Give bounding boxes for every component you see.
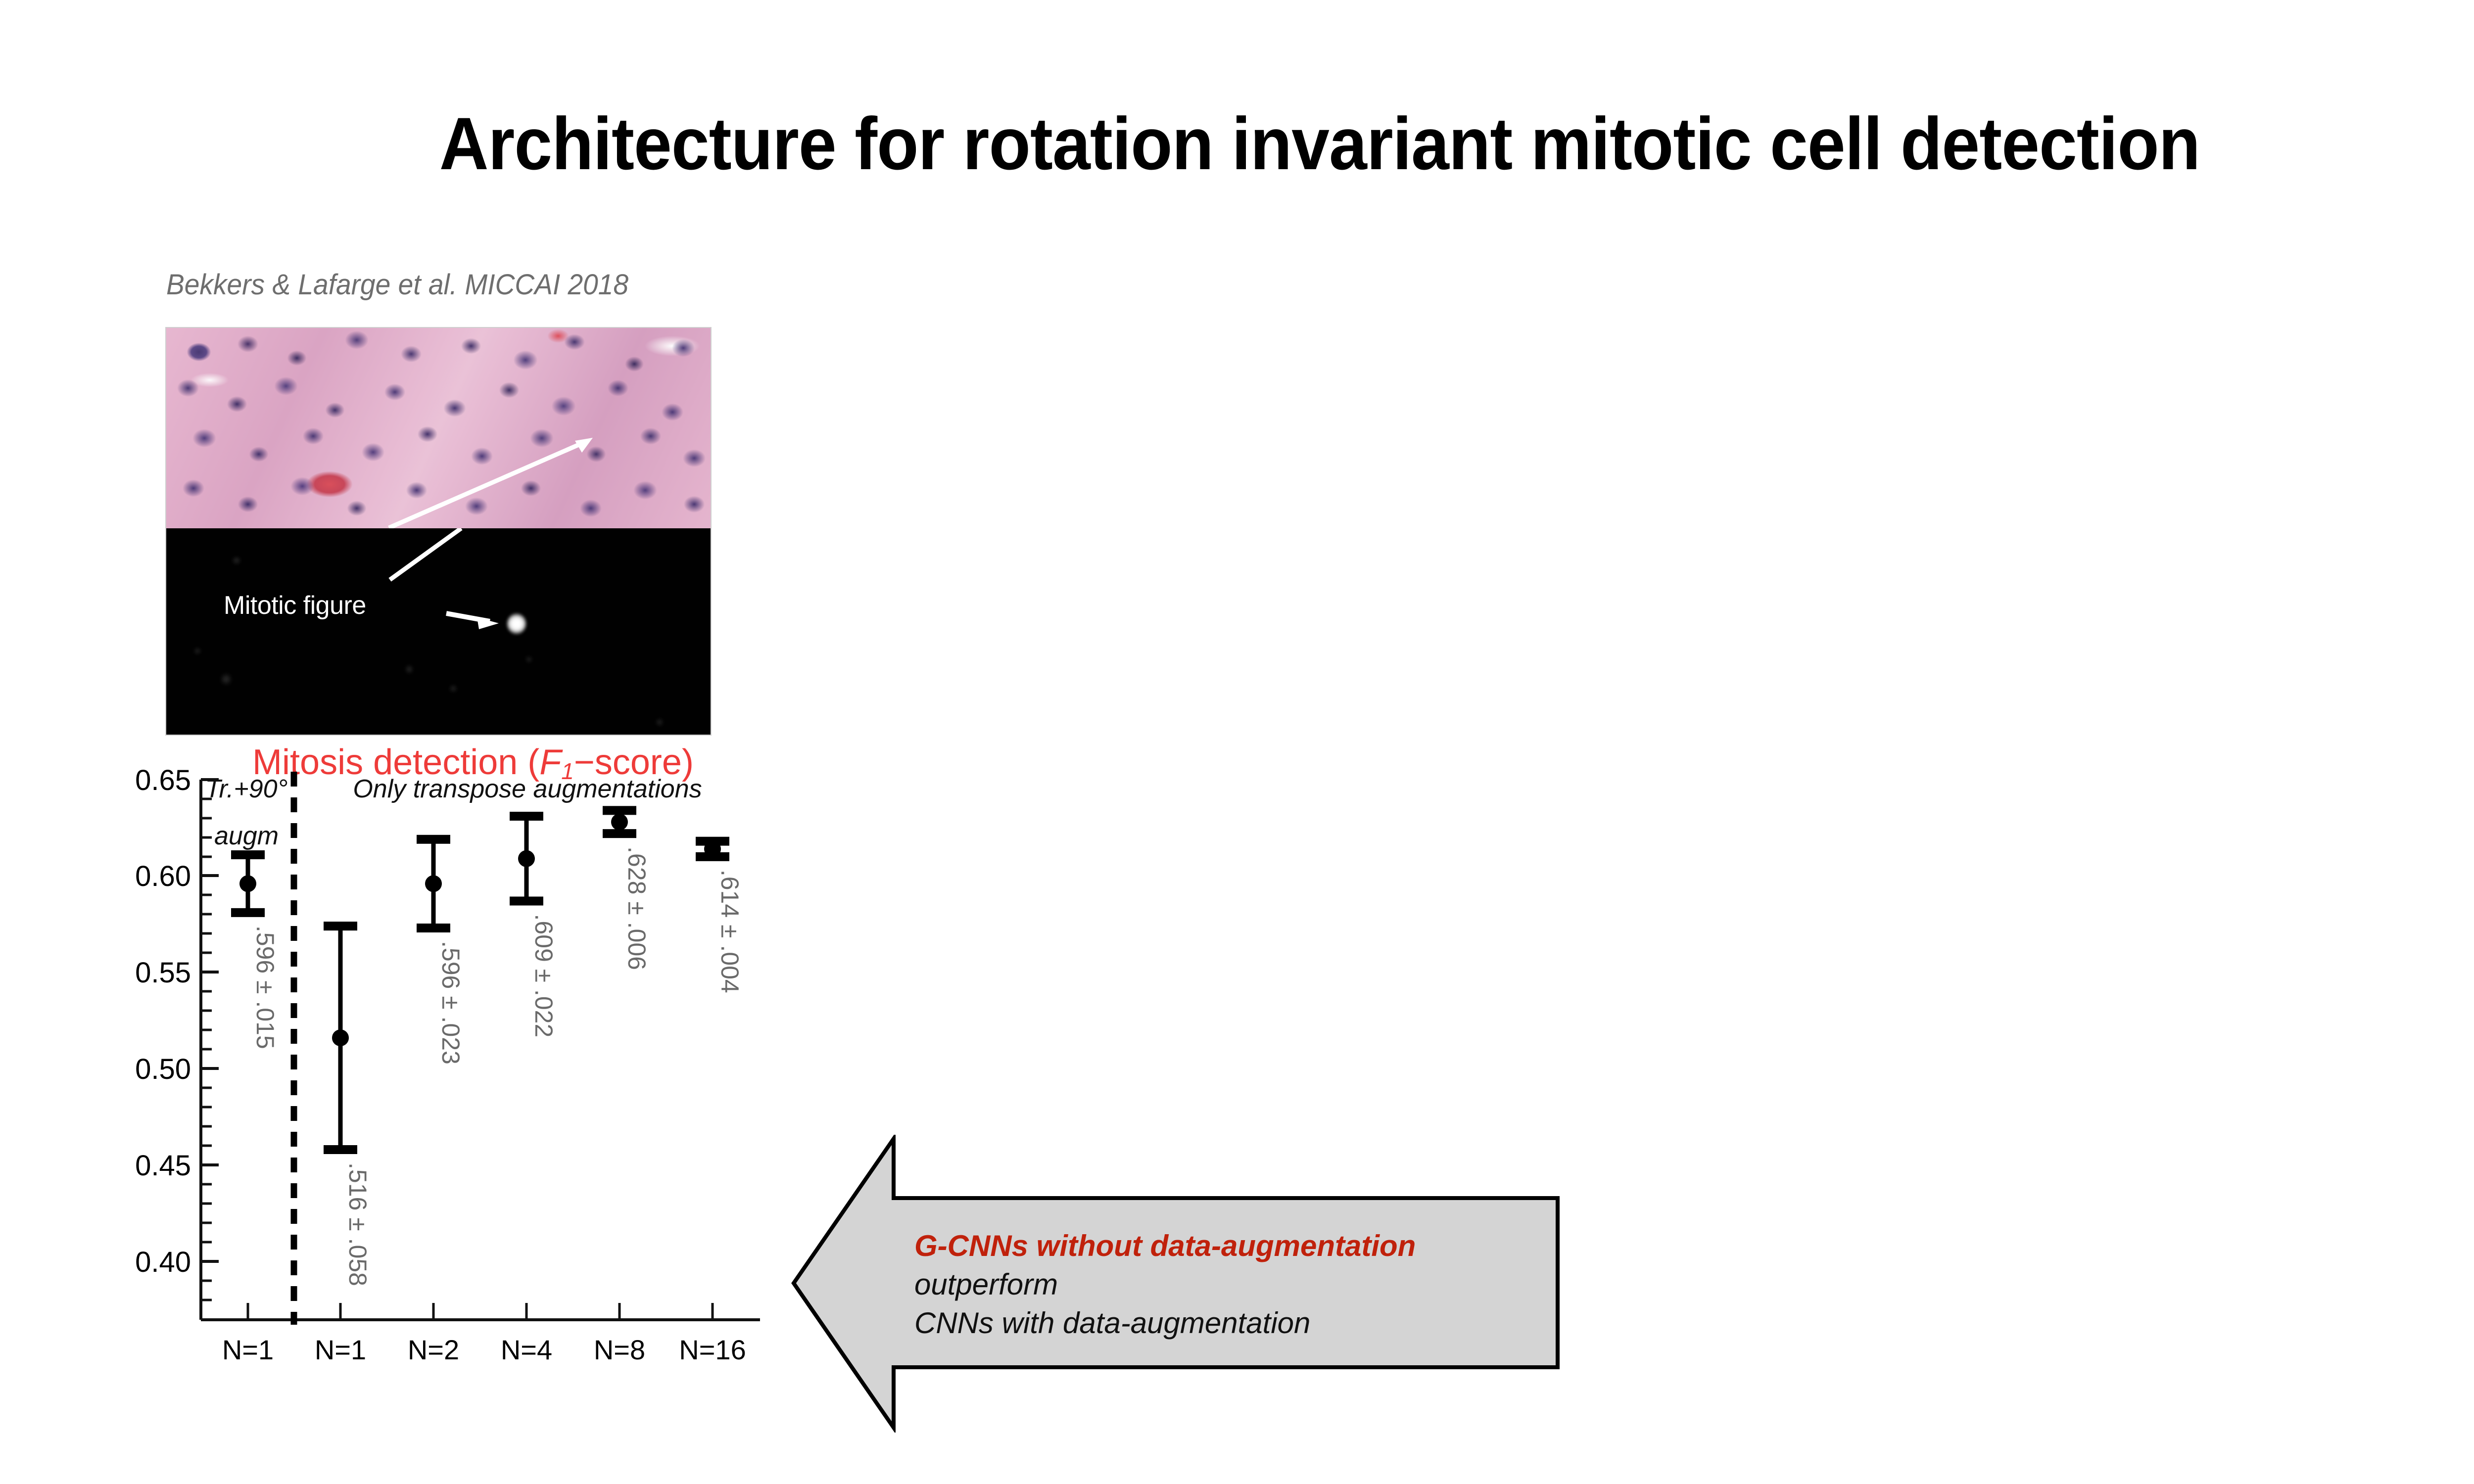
x-axis-ticks [248,1303,713,1320]
group-label-right: Only transpose augmentations [353,775,702,803]
data-value-label: .516 ± .058 [344,1162,372,1286]
data-point-marker [239,875,256,892]
citation-text: Bekkers & Lafarge et al. MICCAI 2018 [166,268,628,301]
x-tick-label: N=4 [501,1334,552,1365]
y-axis-ticks [201,780,219,1300]
callout-line-2: outperform [914,1265,1548,1304]
x-tick-label: N=8 [594,1334,645,1365]
x-tick-label: N=1 [222,1334,274,1365]
x-tick-label: N=2 [408,1334,459,1365]
error-bar-point: .516 ± .058 [324,926,372,1286]
error-bar-series: .596 ± .015.516 ± .058.596 ± .023.609 ± … [231,810,744,1286]
detection-pointer-arrow [166,528,711,735]
group-label-left-line1: Tr.+90° [205,775,288,803]
group-label-left-line2: augm [214,822,279,850]
data-point-marker [425,875,442,892]
data-value-label: .596 ± .015 [251,926,279,1049]
figure-panel: Mitotic figure [166,328,711,735]
data-point-marker [518,850,535,867]
error-bar-point: .628 ± .006 [603,810,651,970]
callout-line-3: CNNs with data-augmentation [914,1304,1548,1343]
error-bar-point: .614 ± .004 [696,840,744,993]
x-tick-label: N=16 [679,1334,746,1365]
data-value-label: .614 ± .004 [716,870,744,993]
y-tick-label: 0.45 [135,1150,191,1182]
error-bar-point: .596 ± .015 [231,855,279,1049]
data-point-marker [704,840,721,857]
callout-arrow: G-CNNs without data-augmentation outperf… [790,1135,1562,1433]
detection-map-panel: Mitotic figure [166,528,711,735]
data-value-label: .628 ± .006 [623,846,651,970]
page-title: Architecture for rotation invariant mito… [105,106,2474,181]
mitosis-detection-chart: Mitosis detection (F1−score) [117,742,770,1405]
chart-plot-area: 0.65 0.60 0.55 0.50 0.45 0.40 Tr.+90° au… [117,742,770,1405]
y-tick-label: 0.40 [135,1246,191,1278]
y-tick-label: 0.50 [135,1053,191,1085]
callout-line-1: G-CNNs without data-augmentation [914,1227,1548,1265]
data-value-label: .609 ± .022 [530,914,558,1037]
data-point-marker [611,814,628,831]
error-bar-point: .596 ± .023 [417,839,465,1065]
y-tick-label: 0.65 [135,764,191,796]
error-bar-point: .609 ± .022 [510,816,558,1037]
x-tick-label: N=1 [315,1334,366,1365]
data-point-marker [332,1029,349,1046]
y-tick-label: 0.60 [135,860,191,892]
y-tick-label: 0.55 [135,957,191,989]
histology-pointer-arrow [166,328,711,528]
data-value-label: .596 ± .023 [437,941,465,1065]
callout-text: G-CNNs without data-augmentation outperf… [914,1227,1548,1343]
